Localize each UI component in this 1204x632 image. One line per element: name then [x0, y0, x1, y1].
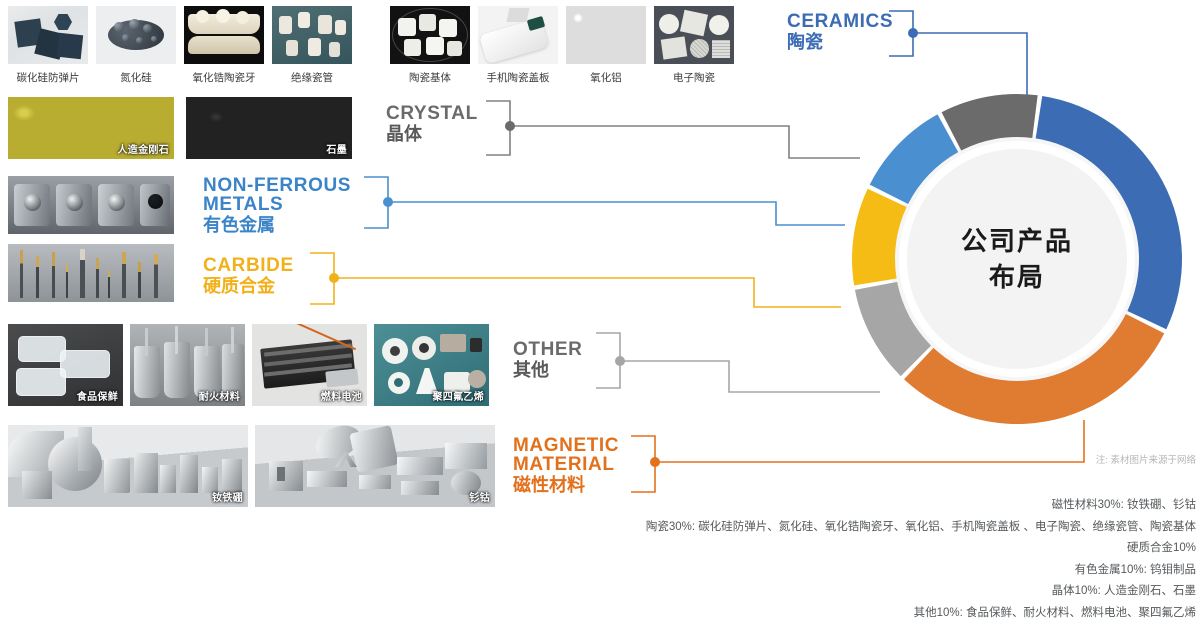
thumb-carbide-0	[8, 244, 174, 302]
legend-row: 有色金属10%: 钨钼制品	[646, 560, 1196, 582]
infographic-canvas: 人造金刚石 石墨	[0, 0, 1204, 632]
thumb-ceramics-2	[184, 6, 264, 64]
thumb-ceramics-7	[654, 6, 734, 64]
photo-insulating-tube	[272, 6, 352, 64]
category-zh-other: 其他	[513, 360, 583, 381]
thumb-ceramics-0	[8, 6, 88, 64]
legend-row: 磁性材料30%: 钕铁硼、钐钴	[646, 495, 1196, 517]
category-en-other: OTHER	[513, 340, 583, 359]
category-zh-magnetic: 磁性材料	[513, 475, 619, 496]
category-label-other[interactable]: OTHER 其他	[513, 340, 583, 381]
photo-graphite: 石墨	[186, 97, 352, 159]
thumb-caption: 钕铁硼	[212, 489, 243, 504]
legend-row: 陶瓷30%: 碳化硅防弹片、氮化硅、氧化锆陶瓷牙、氧化铝、手机陶瓷盖板 、电子陶…	[646, 517, 1196, 539]
thumb-caption: 耐火材料	[199, 388, 240, 403]
photo-food-preservation: 食品保鲜	[8, 324, 123, 406]
caption-ceramics-3: 绝缘瓷管	[272, 70, 352, 85]
caption-ceramics-5: 手机陶瓷盖板	[478, 70, 558, 85]
photo-carbide-drills	[8, 244, 174, 302]
caption-ceramics-4: 陶瓷基体	[390, 70, 470, 85]
thumb-ceramics-4	[390, 6, 470, 64]
thumb-ceramics-1	[96, 6, 176, 64]
category-en-crystal: CRYSTAL	[386, 104, 478, 123]
caption-ceramics-0: 碳化硅防弹片	[8, 70, 88, 85]
thumb-caption: 人造金刚石	[118, 141, 170, 156]
thumb-ceramics-6	[566, 6, 646, 64]
donut-chart: 公司产品 布局	[830, 72, 1204, 446]
legend-row: 硬质合金10%	[646, 538, 1196, 560]
category-label-nonferrous[interactable]: NON-FERROUS METALS 有色金属	[203, 176, 351, 236]
category-en-nonferrous: NON-FERROUS METALS	[203, 176, 351, 214]
caption-ceramics-2: 氧化锆陶瓷牙	[184, 70, 264, 85]
thumb-magnetic-1: 钐钴	[255, 425, 495, 507]
photo-ptfe: 聚四氟乙烯	[374, 324, 489, 406]
thumb-ceramics-3	[272, 6, 352, 64]
photo-silicon-nitride	[96, 6, 176, 64]
category-label-magnetic[interactable]: MAGNETIC MATERIAL 磁性材料	[513, 436, 619, 496]
photo-sic-armor	[8, 6, 88, 64]
category-label-ceramics[interactable]: CERAMICS 陶瓷	[787, 12, 893, 53]
photo-refractory-material: 耐火材料	[130, 324, 245, 406]
caption-ceramics-1: 氮化硅	[96, 70, 176, 85]
caption-ceramics-7: 电子陶瓷	[654, 70, 734, 85]
source-note: 注: 素材图片来源于网络	[1096, 452, 1196, 466]
category-label-carbide[interactable]: CARBIDE 硬质合金	[203, 256, 294, 297]
thumb-nonferrous-0	[8, 176, 174, 234]
category-zh-nonferrous: 有色金属	[203, 215, 351, 236]
connector-nonferrous	[364, 177, 845, 228]
thumb-other-2: 燃料电池	[252, 324, 367, 406]
photo-samarium-cobalt: 钐钴	[255, 425, 495, 507]
connector-carbide	[310, 253, 841, 307]
photo-tungsten-molybdenum	[8, 176, 174, 234]
photo-ndfeb: 钕铁硼	[8, 425, 248, 507]
category-zh-carbide: 硬质合金	[203, 276, 294, 297]
thumb-caption: 燃料电池	[321, 388, 362, 403]
thumb-caption: 石墨	[326, 141, 347, 156]
category-en-magnetic: MAGNETIC MATERIAL	[513, 436, 619, 474]
category-zh-crystal: 晶体	[386, 124, 478, 145]
connector-crystal	[486, 101, 860, 158]
thumb-crystal-0: 人造金刚石	[8, 97, 174, 159]
category-en-carbide: CARBIDE	[203, 256, 294, 275]
photo-fuel-cell: 燃料电池	[252, 324, 367, 406]
center-line-1: 公司产品	[961, 223, 1073, 259]
thumb-ceramics-5	[478, 6, 558, 64]
thumb-other-1: 耐火材料	[130, 324, 245, 406]
photo-alumina-beads	[566, 6, 646, 64]
legend-list: 磁性材料30%: 钕铁硼、钐钴 陶瓷30%: 碳化硅防弹片、氮化硅、氧化锆陶瓷牙…	[646, 495, 1196, 624]
donut-center-text: 公司产品 布局	[830, 72, 1204, 446]
photo-zirconia-teeth	[184, 6, 264, 64]
thumb-other-0: 食品保鲜	[8, 324, 123, 406]
photo-electronic-ceramics	[654, 6, 734, 64]
category-zh-ceramics: 陶瓷	[787, 32, 893, 53]
photo-phone-ceramic-cover	[478, 6, 558, 64]
thumb-caption: 钐钴	[469, 489, 490, 504]
legend-row: 其他10%: 食品保鲜、耐火材料、燃料电池、聚四氟乙烯	[646, 603, 1196, 625]
legend-row: 晶体10%: 人造金刚石、石墨	[646, 581, 1196, 603]
thumb-caption: 食品保鲜	[77, 388, 118, 403]
thumb-magnetic-0: 钕铁硼	[8, 425, 248, 507]
center-line-2: 布局	[989, 259, 1045, 295]
photo-ceramic-substrate	[390, 6, 470, 64]
thumb-crystal-1: 石墨	[186, 97, 352, 159]
photo-synthetic-diamond: 人造金刚石	[8, 97, 174, 159]
thumb-caption: 聚四氟乙烯	[433, 388, 485, 403]
thumb-other-3: 聚四氟乙烯	[374, 324, 489, 406]
category-label-crystal[interactable]: CRYSTAL 晶体	[386, 104, 478, 145]
caption-ceramics-6: 氧化铝	[566, 70, 646, 85]
category-en-ceramics: CERAMICS	[787, 12, 893, 31]
